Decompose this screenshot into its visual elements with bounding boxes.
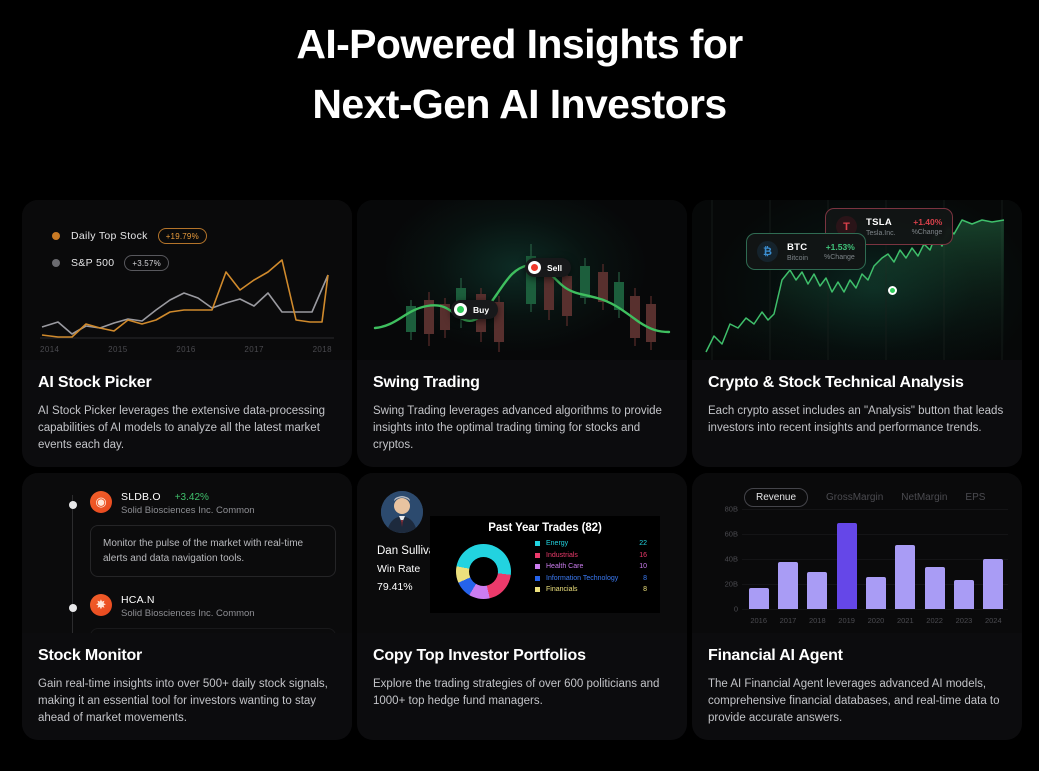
ticker-names: TSLA Tesla.Inc. [866, 217, 896, 237]
hero-line-2: Next-Gen AI Investors [312, 81, 726, 127]
win-rate-value: 79.41% [377, 581, 413, 593]
card-title: Copy Top Investor Portfolios [373, 647, 671, 665]
past-year-trades-panel: Past Year Trades (82) Energy 22 Industri… [430, 516, 660, 613]
page-title: AI-Powered Insights for Next-Gen AI Inve… [0, 14, 1039, 134]
ticker-symbol: TSLA [866, 217, 896, 228]
win-rate-label: Win Rate [377, 563, 420, 575]
alert-header: ◉ SLDB.O +3.42% Solid Biosciences Inc. C… [90, 491, 336, 516]
chart-legend: Daily Top Stock +19.79% S&P 500 +3.57% [52, 228, 207, 282]
x-tick: 2019 [833, 616, 859, 625]
ticker-symbol: BTC [787, 242, 808, 253]
legend-badge: +3.57% [124, 255, 169, 271]
legend-badge: +19.79% [158, 228, 207, 244]
card-body: Financial AI Agent The AI Financial Agen… [692, 633, 1022, 727]
legend-label: Financials [546, 586, 643, 593]
legend-value: 10 [639, 563, 647, 570]
swing-trading-chart: Buy Sell [357, 200, 687, 360]
hero-section: AI-Powered Insights for Next-Gen AI Inve… [0, 0, 1039, 134]
stock-picker-chart: Daily Top Stock +19.79% S&P 500 +3.57% 2… [22, 200, 352, 360]
card-description: Each crypto asset includes an "Analysis"… [708, 403, 1006, 437]
bar[interactable] [983, 559, 1003, 609]
legend-dot-icon [52, 259, 60, 267]
buy-label: Buy [473, 305, 489, 315]
investor-portfolio-panel: Dan Sullivan Win Rate 79.41% Past Year T… [357, 473, 687, 633]
legend-row-daily-top-stock: Daily Top Stock +19.79% [52, 228, 207, 244]
card-title: Crypto & Stock Technical Analysis [708, 374, 1006, 392]
timeline-node [69, 604, 77, 612]
card-body: Copy Top Investor Portfolios Explore the… [357, 633, 687, 710]
ticker-change-label: %Change [824, 254, 855, 261]
donut-ring [456, 544, 511, 599]
y-tick: 0 [734, 605, 738, 614]
legend-swatch-icon [535, 541, 540, 546]
tab-eps[interactable]: EPS [965, 492, 985, 503]
ticker-company: Bitcoin [787, 255, 808, 262]
sell-dot-icon [528, 261, 541, 274]
bar-column[interactable] [863, 509, 889, 609]
alert-company: Solid Biosciences Inc. Common [121, 505, 255, 516]
legend-row-sp500: S&P 500 +3.57% [52, 255, 207, 271]
card-swing-trading[interactable]: Buy Sell Swing Trading Swing Trading lev… [357, 200, 687, 467]
bar[interactable] [866, 577, 886, 610]
card-stock-monitor[interactable]: ◉ SLDB.O +3.42% Solid Biosciences Inc. C… [22, 473, 352, 740]
x-tick: 2014 [40, 345, 59, 354]
card-description: Swing Trading leverages advanced algorit… [373, 403, 671, 454]
y-tick: 60B [725, 530, 738, 539]
bar[interactable] [895, 545, 915, 609]
bar-column[interactable] [833, 509, 859, 609]
ticker-values: +1.40% %Change [912, 217, 943, 236]
legend-label: S&P 500 [71, 257, 114, 269]
buy-dot-icon [454, 303, 467, 316]
card-body: Stock Monitor Gain real-time insights in… [22, 633, 352, 727]
landing-page: AI-Powered Insights for Next-Gen AI Inve… [0, 0, 1039, 771]
card-title: Financial AI Agent [708, 647, 1006, 665]
bar-column[interactable] [745, 509, 771, 609]
bar[interactable] [925, 567, 945, 610]
legend-dot-icon [52, 232, 60, 240]
x-tick: 2024 [980, 616, 1006, 625]
pie-legend-row: Information Technology 8 [535, 575, 647, 582]
candlestick-chart-svg [357, 200, 687, 360]
x-axis-labels: 201620172018201920202021202220232024 [744, 616, 1008, 625]
avatar [381, 491, 423, 533]
card-body: Crypto & Stock Technical Analysis Each c… [692, 360, 1022, 437]
avatar-photo [381, 491, 423, 533]
x-tick: 2022 [921, 616, 947, 625]
alert-symbol-row: HCA.N [121, 594, 255, 606]
bitcoin-icon: ₿ [757, 241, 778, 262]
y-axis-labels: 0 20B 40B 60B 80B [710, 509, 740, 609]
card-description: Explore the trading strategies of over 6… [373, 676, 671, 710]
card-copy-portfolios[interactable]: Dan Sullivan Win Rate 79.41% Past Year T… [357, 473, 687, 740]
metric-tabs: Revenue GrossMargin NetMargin EPS [744, 488, 985, 507]
y-tick: 40B [725, 555, 738, 564]
pie-legend-row: Industrials 16 [535, 552, 647, 559]
timeline-node [69, 501, 77, 509]
bars-container [744, 509, 1008, 609]
timeline-rail [72, 495, 73, 633]
alert-header: ✸ HCA.N Solid Biosciences Inc. Common [90, 594, 336, 619]
legend-label: Health Care [546, 563, 639, 570]
financials-chart: Revenue GrossMargin NetMargin EPS 0 [692, 473, 1022, 633]
company-logo-icon: ✸ [90, 594, 112, 616]
ticker-change: +1.40% [912, 217, 943, 227]
card-ai-stock-picker[interactable]: Daily Top Stock +19.79% S&P 500 +3.57% 2… [22, 200, 352, 467]
bar[interactable] [749, 588, 769, 609]
pie-legend: Energy 22 Industrials 16 Health Care 10 [535, 540, 647, 598]
tab-revenue[interactable]: Revenue [744, 488, 808, 507]
x-tick: 2015 [108, 345, 127, 354]
alert-symbol: HCA.N [121, 594, 155, 606]
card-body: AI Stock Picker AI Stock Picker leverage… [22, 360, 352, 454]
sell-marker[interactable]: Sell [525, 258, 571, 277]
card-title: Stock Monitor [38, 647, 336, 665]
ticker-change-label: %Change [912, 229, 943, 236]
x-tick: 2020 [863, 616, 889, 625]
donut-chart [456, 544, 511, 599]
y-tick: 20B [725, 580, 738, 589]
ticker-names: BTC Bitcoin [787, 242, 808, 262]
legend-value: 22 [639, 540, 647, 547]
alert-change: +3.42% [175, 492, 209, 503]
bar-column[interactable] [775, 509, 801, 609]
x-tick: 2021 [892, 616, 918, 625]
legend-value: 8 [643, 575, 647, 582]
alert-item-sldb[interactable]: ◉ SLDB.O +3.42% Solid Biosciences Inc. C… [90, 491, 336, 577]
x-tick: 2017 [244, 345, 263, 354]
stock-monitor-feed: ◉ SLDB.O +3.42% Solid Biosciences Inc. C… [22, 473, 352, 633]
ticker-values: +1.53% %Change [824, 242, 855, 261]
revenue-bar-chart: 0 20B 40B 60B 80B 2016201720182019202020… [710, 509, 1008, 627]
x-tick: 2016 [176, 345, 195, 354]
ticker-change: +1.53% [824, 242, 855, 252]
alert-item-hca[interactable]: ✸ HCA.N Solid Biosciences Inc. Common Mo… [90, 594, 336, 633]
alert-message: Monitor the pulse of the market with rea… [90, 525, 336, 577]
alert-symbol-row: SLDB.O +3.42% [121, 491, 255, 503]
company-logo-icon: ◉ [90, 491, 112, 513]
legend-label: Information Technology [546, 575, 643, 582]
crypto-chart: T TSLA Tesla.Inc. +1.40% %Change ₿ BTC B… [692, 200, 1022, 360]
legend-swatch-icon [535, 587, 540, 592]
legend-swatch-icon [535, 576, 540, 581]
bar-column[interactable] [804, 509, 830, 609]
card-body: Swing Trading Swing Trading leverages ad… [357, 360, 687, 454]
card-title: AI Stock Picker [38, 374, 336, 392]
legend-label: Industrials [546, 552, 639, 559]
card-crypto-technical-analysis[interactable]: T TSLA Tesla.Inc. +1.40% %Change ₿ BTC B… [692, 200, 1022, 467]
bar[interactable] [778, 562, 798, 610]
legend-label: Energy [546, 540, 639, 547]
trades-title: Past Year Trades (82) [430, 516, 660, 534]
legend-value: 8 [643, 586, 647, 593]
x-tick: 2018 [804, 616, 830, 625]
feature-card-grid: Daily Top Stock +19.79% S&P 500 +3.57% 2… [22, 200, 1018, 740]
hero-line-1: AI-Powered Insights for [296, 21, 742, 67]
ticker-card-btc[interactable]: ₿ BTC Bitcoin +1.53% %Change [746, 233, 866, 270]
pie-legend-row: Energy 22 [535, 540, 647, 547]
ticker-company: Tesla.Inc. [866, 230, 896, 237]
tab-netmargin[interactable]: NetMargin [901, 492, 947, 503]
card-financial-ai-agent[interactable]: Revenue GrossMargin NetMargin EPS 0 [692, 473, 1022, 740]
card-description: The AI Financial Agent leverages advance… [708, 676, 1006, 727]
bar-column[interactable] [892, 509, 918, 609]
pie-legend-row: Financials 8 [535, 586, 647, 593]
x-axis-labels: 2014 2015 2016 2017 2018 [40, 345, 332, 354]
bar-column[interactable] [921, 509, 947, 609]
legend-swatch-icon [535, 553, 540, 558]
legend-value: 16 [639, 552, 647, 559]
buy-marker[interactable]: Buy [451, 300, 498, 319]
card-description: AI Stock Picker leverages the extensive … [38, 403, 336, 454]
x-tick: 2023 [951, 616, 977, 625]
tab-grossmargin[interactable]: GrossMargin [826, 492, 883, 503]
alert-company: Solid Biosciences Inc. Common [121, 608, 255, 619]
legend-swatch-icon [535, 564, 540, 569]
bar-column[interactable] [951, 509, 977, 609]
card-description: Gain real-time insights into over 500+ d… [38, 676, 336, 727]
pie-legend-row: Health Care 10 [535, 563, 647, 570]
y-tick: 80B [725, 505, 738, 514]
sell-label: Sell [547, 263, 562, 273]
x-tick: 2017 [775, 616, 801, 625]
x-tick: 2016 [745, 616, 771, 625]
bar[interactable] [954, 580, 974, 609]
alert-symbol: SLDB.O [121, 491, 161, 503]
bar[interactable] [837, 523, 857, 609]
bar[interactable] [807, 572, 827, 610]
crypto-price-marker[interactable] [888, 286, 897, 295]
bar-column[interactable] [980, 509, 1006, 609]
card-title: Swing Trading [373, 374, 671, 392]
legend-label: Daily Top Stock [71, 230, 148, 242]
x-tick: 2018 [313, 345, 332, 354]
